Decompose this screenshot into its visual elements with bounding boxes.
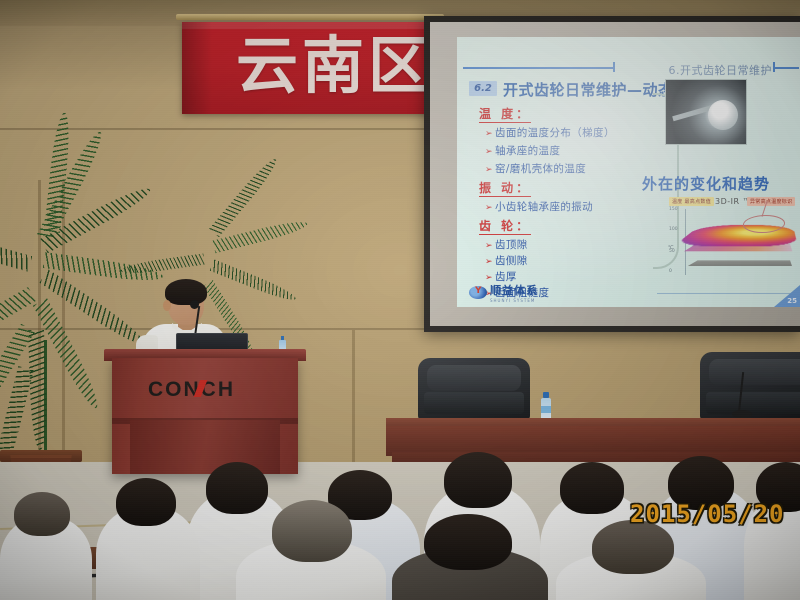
bullet-arrow-icon: ➢: [485, 257, 493, 267]
bottle-label: [541, 406, 551, 413]
sy-logo-icon: [469, 286, 487, 299]
slide-tick-left: [613, 62, 615, 72]
plot-base-shadow: [688, 260, 792, 266]
slide-bullet: ➢轴承座的温度: [485, 143, 560, 158]
bullet-arrow-icon: ➢: [485, 203, 493, 213]
tag-right: 异常高点温度标识: [747, 197, 795, 206]
banner-rod: [176, 14, 444, 20]
photo-highlight: [708, 100, 738, 130]
slide-group-heading-gear: 齿 轮：: [479, 217, 531, 235]
bottle-cap: [543, 392, 549, 398]
conference-photo: 云南区 6.开式齿轮日常维护 6.2 开式齿轮日常维护—动态检查 温 度： ➢齿…: [0, 0, 800, 600]
speaker-hair: [165, 279, 207, 305]
bullet-arrow-icon: ➢: [485, 129, 493, 139]
slide-page-number: 25: [787, 297, 797, 305]
equipment-photo: [665, 79, 747, 145]
slide-group-heading-vibration: 振 动：: [479, 179, 531, 197]
presentation-slide: 6.开式齿轮日常维护 6.2 开式齿轮日常维护—动态检查 温 度： ➢齿面的温度…: [457, 37, 800, 307]
slide-bullet: ➢齿面的温度分布（梯度）: [485, 125, 615, 140]
logo-chinese-name: 顺益体系: [490, 282, 538, 298]
slide-bullet: ➢齿顶隙: [485, 237, 528, 252]
slide-bullet: ➢窑/磨机壳体的温度: [485, 161, 586, 176]
slide-group-heading-temperature: 温 度：: [479, 105, 531, 123]
plot-tick: 0: [669, 269, 672, 274]
slide-right-caption: 外在的变化和趋势: [642, 173, 770, 194]
plot-tick: 100: [669, 227, 678, 232]
podium-base: [130, 420, 280, 474]
slide-bullet: ➢齿侧隙: [485, 253, 528, 268]
slide-footer-logo: 顺益体系 SHUNYI SYSTEM: [469, 282, 538, 303]
table-microphone-base: [732, 410, 752, 418]
slide-bullet: ➢小齿轮轴承座的振动: [485, 199, 593, 214]
banner-text: 云南区: [236, 35, 434, 97]
red-banner: 云南区: [182, 22, 440, 114]
chair: [700, 352, 800, 420]
bullet-arrow-icon: ➢: [485, 241, 493, 251]
banner-fold: [182, 22, 212, 114]
water-bottle: [541, 398, 551, 420]
podium-brand-label: CONCH: [148, 378, 235, 402]
tech-label: 3D-IR ™: [715, 197, 751, 206]
slide-section-number: 6.2: [469, 81, 497, 96]
slide-rule-left: [463, 67, 613, 69]
date-stamp: 2015/05/20: [630, 500, 785, 528]
slide-rule-right: [775, 67, 799, 69]
speaker-ear: [163, 300, 171, 311]
chair: [418, 358, 530, 420]
podium-microphone-head: [190, 300, 199, 309]
bullet-arrow-icon: ➢: [485, 165, 493, 175]
plot-tick: 150: [669, 207, 678, 212]
logo-english-name: SHUNYI SYSTEM: [490, 298, 538, 303]
wall-column-edge: [352, 330, 355, 480]
slide-header-text: 6.开式齿轮日常维护: [669, 62, 773, 78]
thermal-3d-plot: 150 100 50 0 ℃: [667, 209, 797, 287]
tag-left: 温度 最高点数值: [669, 197, 714, 206]
bullet-arrow-icon: ➢: [485, 147, 493, 157]
plot-unit-label: ℃: [668, 245, 674, 251]
